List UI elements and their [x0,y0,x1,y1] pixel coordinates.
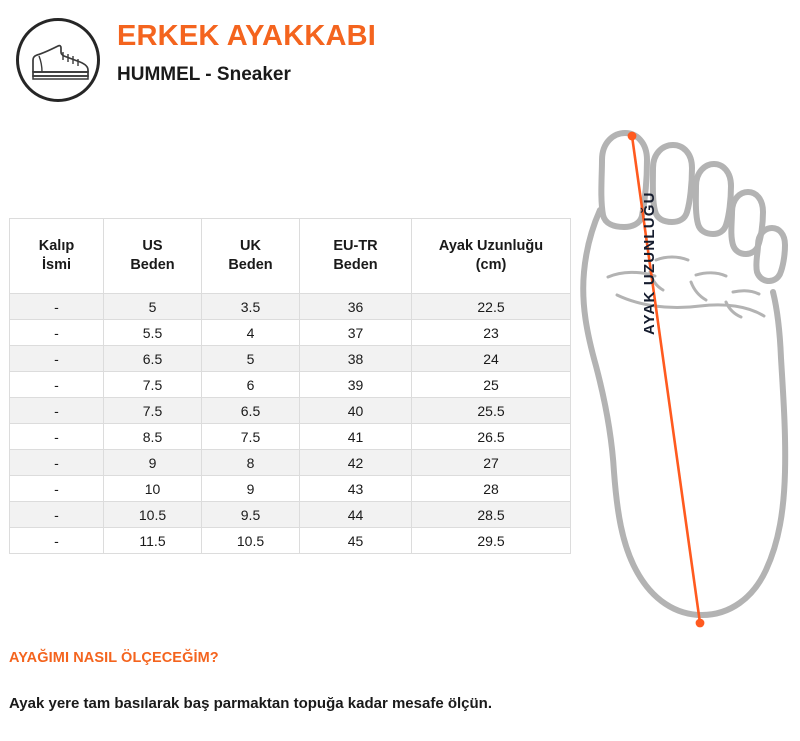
measure-endpoint-heel [696,619,705,628]
cell-eu-tr-beden: 44 [300,502,412,528]
column-header-eu-tr-beden: EU-TR Beden [300,219,412,294]
cell-us-beden: 11.5 [104,528,202,554]
sneaker-glyph [30,43,92,83]
cell-kalip-ismi: - [10,398,104,424]
column-header-ayak-uzunlugu: Ayak Uzunluğu (cm) [412,219,571,294]
cell-eu-tr-beden: 36 [300,294,412,320]
foot-outline-svg [560,120,800,640]
cell-ayak-uzunlugu: 29.5 [412,528,571,554]
crease-2 [656,257,688,260]
column-header-kalip-ismi: Kalıp İsmi [10,219,104,294]
measurement-instructions: AYAĞIMI NASIL ÖLÇECEĞİM? Ayak yere tam b… [9,650,779,712]
cell-uk-beden: 9 [202,476,300,502]
table-header-row: Kalıp İsmi US Beden UK Beden EU-TR Beden… [10,219,571,294]
instructions-text: Ayak yere tam basılarak baş parmaktan to… [9,695,779,712]
header-line-2: (cm) [476,257,507,273]
header-line-1: UK [240,238,261,254]
column-header-us-beden: US Beden [104,219,202,294]
page-subtitle: HUMMEL - Sneaker [117,62,677,88]
crease-joint-2 [691,282,706,300]
cell-kalip-ismi: - [10,502,104,528]
cell-uk-beden: 3.5 [202,294,300,320]
page-title: ERKEK AYAKKABI [117,18,677,54]
table-row: -5.543723 [10,320,571,346]
cell-us-beden: 10.5 [104,502,202,528]
cell-kalip-ismi: - [10,372,104,398]
instructions-heading: AYAĞIMI NASIL ÖLÇECEĞİM? [9,650,779,666]
cell-uk-beden: 10.5 [202,528,300,554]
cell-eu-tr-beden: 40 [300,398,412,424]
header-line-1: Kalıp [39,238,74,254]
cell-kalip-ismi: - [10,528,104,554]
crease-4 [733,291,759,294]
cell-uk-beden: 9.5 [202,502,300,528]
toe-3 [696,164,731,234]
header-line-2: İsmi [42,257,71,273]
header-line-2: Beden [228,257,272,273]
cell-us-beden: 5 [104,294,202,320]
cell-ayak-uzunlugu: 24 [412,346,571,372]
cell-us-beden: 9 [104,450,202,476]
cell-kalip-ismi: - [10,294,104,320]
sneaker-icon [16,18,100,102]
cell-uk-beden: 8 [202,450,300,476]
measure-endpoint-toe [628,132,637,141]
table-header: Kalıp İsmi US Beden UK Beden EU-TR Beden… [10,219,571,294]
cell-ayak-uzunlugu: 28.5 [412,502,571,528]
cell-eu-tr-beden: 43 [300,476,412,502]
table-row: -10.59.54428.5 [10,502,571,528]
column-header-uk-beden: UK Beden [202,219,300,294]
cell-ayak-uzunlugu: 22.5 [412,294,571,320]
page-header: ERKEK AYAKKABI HUMMEL - Sneaker [0,0,800,110]
foot-crease-lines [608,257,764,317]
header-line-2: Beden [333,257,377,273]
cell-ayak-uzunlugu: 25.5 [412,398,571,424]
size-chart-table: Kalıp İsmi US Beden UK Beden EU-TR Beden… [9,218,571,554]
cell-ayak-uzunlugu: 27 [412,450,571,476]
table-row: -984227 [10,450,571,476]
ball-arc [617,295,764,316]
cell-kalip-ismi: - [10,346,104,372]
header-line-1: Ayak Uzunluğu [439,238,543,254]
cell-uk-beden: 5 [202,346,300,372]
header-line-1: EU-TR [333,238,377,254]
foot-sole-diagram [560,120,800,640]
cell-kalip-ismi: - [10,450,104,476]
cell-ayak-uzunlugu: 28 [412,476,571,502]
title-block: ERKEK AYAKKABI HUMMEL - Sneaker [117,18,677,88]
header-line-2: Beden [130,257,174,273]
foot-outline-group [583,133,785,615]
cell-eu-tr-beden: 41 [300,424,412,450]
cell-us-beden: 6.5 [104,346,202,372]
cell-uk-beden: 6 [202,372,300,398]
cell-eu-tr-beden: 42 [300,450,412,476]
cell-ayak-uzunlugu: 25 [412,372,571,398]
cell-eu-tr-beden: 38 [300,346,412,372]
cell-uk-beden: 4 [202,320,300,346]
cell-kalip-ismi: - [10,476,104,502]
table-row: -6.553824 [10,346,571,372]
cell-uk-beden: 7.5 [202,424,300,450]
table-row: -8.57.54126.5 [10,424,571,450]
toe-5-little [756,228,785,281]
crease-3 [696,273,726,276]
cell-kalip-ismi: - [10,424,104,450]
table-row: -7.56.54025.5 [10,398,571,424]
cell-eu-tr-beden: 45 [300,528,412,554]
cell-kalip-ismi: - [10,320,104,346]
cell-uk-beden: 6.5 [202,398,300,424]
cell-us-beden: 10 [104,476,202,502]
cell-us-beden: 7.5 [104,398,202,424]
cell-ayak-uzunlugu: 26.5 [412,424,571,450]
cell-us-beden: 7.5 [104,372,202,398]
foot-length-label: AYAK UZUNLUĞU [641,95,658,335]
table-row: -7.563925 [10,372,571,398]
toe-2 [653,145,692,222]
header-line-1: US [142,238,162,254]
cell-us-beden: 5.5 [104,320,202,346]
cell-us-beden: 8.5 [104,424,202,450]
cell-ayak-uzunlugu: 23 [412,320,571,346]
table-row: -1094328 [10,476,571,502]
table-row: -53.53622.5 [10,294,571,320]
cell-eu-tr-beden: 39 [300,372,412,398]
table-row: -11.510.54529.5 [10,528,571,554]
cell-eu-tr-beden: 37 [300,320,412,346]
table-body: -53.53622.5-5.543723-6.553824-7.563925-7… [10,294,571,554]
